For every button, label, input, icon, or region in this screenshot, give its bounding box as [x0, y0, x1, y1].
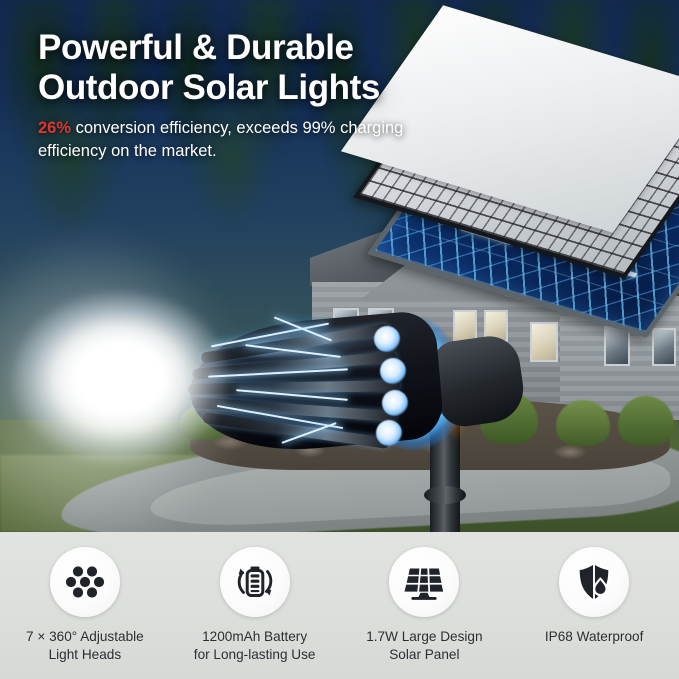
- shrub: [618, 396, 674, 446]
- headline-line-1: Powerful & Durable: [38, 28, 354, 67]
- solar-panel-icon: [401, 559, 447, 605]
- product-marketing-image: Powerful & Durable Outdoor Solar Lights …: [0, 0, 679, 679]
- efficiency-highlight: 26%: [38, 119, 71, 137]
- led-light-head: [40, 276, 500, 496]
- light-beam-core: [0, 258, 290, 508]
- shrub: [556, 400, 610, 446]
- page-title: Powerful & Durable Outdoor Solar Lights: [38, 28, 458, 108]
- battery-recharge-icon: [232, 559, 278, 605]
- feature-icon-circle: [50, 547, 120, 617]
- feature-label: 7 × 360° Adjustable Light Heads: [26, 628, 144, 663]
- subheadline-rest: conversion efficiency, exceeds 99% charg…: [38, 119, 403, 160]
- headline-line-2: Outdoor Solar Lights: [38, 68, 380, 107]
- hero-photo: Powerful & Durable Outdoor Solar Lights …: [0, 0, 679, 532]
- feature-label: 1200mAh Battery for Long-lasting Use: [194, 628, 316, 663]
- led-emitter: [374, 326, 400, 352]
- subheadline: 26% conversion efficiency, exceeds 99% c…: [38, 117, 458, 163]
- feature-item-light-heads: 7 × 360° Adjustable Light Heads: [0, 532, 170, 679]
- feature-icon-circle: [220, 547, 290, 617]
- headline-block: Powerful & Durable Outdoor Solar Lights …: [38, 28, 458, 163]
- feature-label: 1.7W Large Design Solar Panel: [366, 628, 482, 663]
- led-emitter: [382, 390, 408, 416]
- led-heads-icon: [63, 560, 107, 604]
- feature-strip: 7 × 360° Adjustable Light Heads: [0, 532, 679, 679]
- shield-waterdrop-icon: [572, 559, 616, 605]
- feature-icon-circle: [389, 547, 459, 617]
- feature-item-solar-panel: 1.7W Large Design Solar Panel: [340, 532, 510, 679]
- led-emitter: [376, 420, 402, 446]
- feature-item-battery: 1200mAh Battery for Long-lasting Use: [170, 532, 340, 679]
- feature-label: IP68 Waterproof: [545, 628, 643, 646]
- feature-icon-circle: [559, 547, 629, 617]
- led-emitter: [380, 358, 406, 384]
- feature-item-waterproof: IP68 Waterproof: [509, 532, 679, 679]
